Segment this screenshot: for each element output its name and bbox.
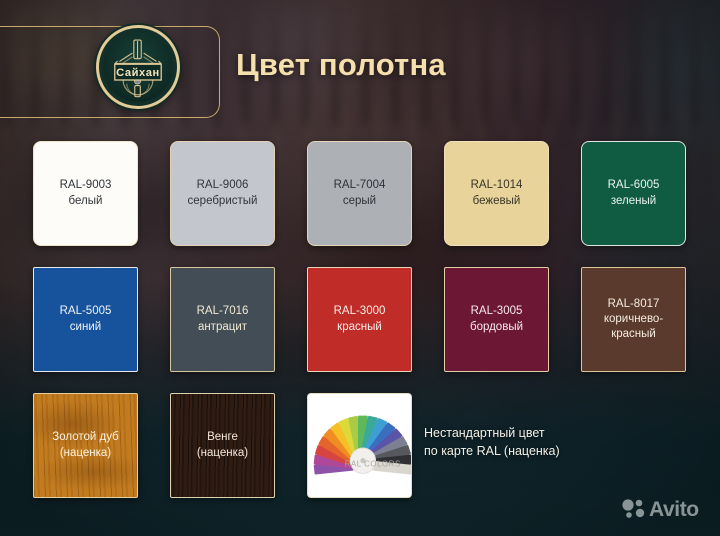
- swatch-golden-oak[interactable]: Золотой дуб(наценка): [33, 393, 138, 498]
- swatch-ral-3005[interactable]: RAL-3005бордовый: [444, 267, 549, 372]
- swatch-label: Золотой дуб(наценка): [48, 430, 122, 460]
- swatch-ral-3000[interactable]: RAL-3000красный: [307, 267, 412, 372]
- avito-watermark: Avito: [621, 498, 699, 520]
- custom-color-note-line-2: по карте RAL (наценка): [424, 443, 674, 461]
- swatch-label: RAL-5005синий: [56, 304, 116, 334]
- swatch-ral-9003[interactable]: RAL-9003белый: [33, 141, 138, 246]
- swatch-label: RAL-3000красный: [330, 304, 390, 334]
- avito-wordmark: Avito: [649, 499, 699, 520]
- swatch-label: RAL-9003белый: [56, 178, 116, 208]
- swatch-label: RAL-1014бежевый: [467, 178, 527, 208]
- custom-color-note-line-1: Нестандартный цвет: [424, 425, 674, 443]
- ral-card-label: RAL COLORS: [345, 460, 401, 469]
- swatch-custom-ral-card[interactable]: RAL COLORS: [307, 393, 412, 498]
- swatch-ral-7016[interactable]: RAL-7016антрацит: [170, 267, 275, 372]
- swatch-label: Венге(наценка): [193, 430, 252, 460]
- swatch-label: RAL-7016антрацит: [193, 304, 253, 334]
- slide-canvas: Сайхан Цвет полотна RAL-9003белый RAL-90…: [0, 0, 720, 536]
- swatch-label: RAL-9006серебристый: [184, 178, 262, 208]
- swatch-ral-7004[interactable]: RAL-7004серый: [307, 141, 412, 246]
- swatch-ral-5005[interactable]: RAL-5005синий: [33, 267, 138, 372]
- swatch-ral-9006[interactable]: RAL-9006серебристый: [170, 141, 275, 246]
- swatch-label: RAL-8017коричнево-красный: [582, 297, 685, 343]
- ral-fan-deck-icon: RAL COLORS: [308, 394, 411, 497]
- avito-logo-icon: [621, 498, 645, 520]
- swatch-ral-1014[interactable]: RAL-1014бежевый: [444, 141, 549, 246]
- swatch-label: RAL-7004серый: [330, 178, 390, 208]
- swatch-label: RAL-3005бордовый: [466, 304, 527, 334]
- swatch-wenge[interactable]: Венге(наценка): [170, 393, 275, 498]
- swatch-label: RAL-6005зеленый: [604, 178, 664, 208]
- custom-color-note: Нестандартный цвет по карте RAL (наценка…: [424, 425, 674, 461]
- swatch-ral-6005[interactable]: RAL-6005зеленый: [581, 141, 686, 246]
- swatch-ral-8017[interactable]: RAL-8017коричнево-красный: [581, 267, 686, 372]
- color-swatch-grid: RAL-9003белый RAL-9006серебристый RAL-70…: [0, 0, 720, 536]
